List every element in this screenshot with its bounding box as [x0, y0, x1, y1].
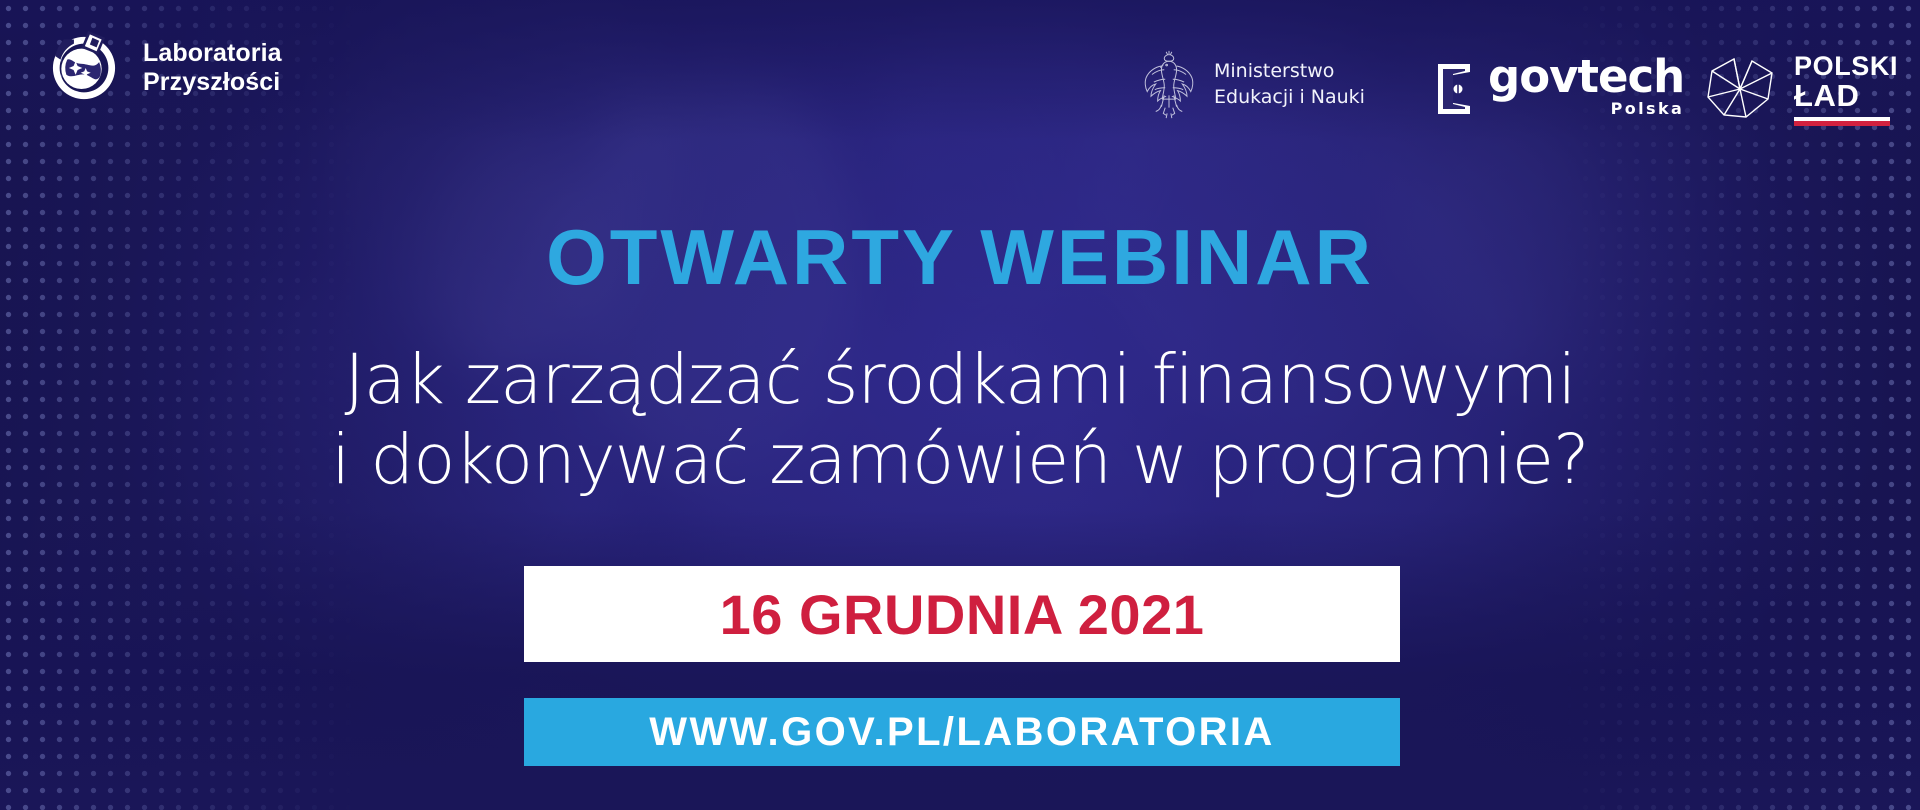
- ministry-logo-text: Ministerstwo Edukacji i Nauki: [1214, 58, 1365, 110]
- ministry-of-education-logo: Ministerstwo Edukacji i Nauki: [1140, 48, 1365, 120]
- webinar-headline: Jak zarządzać środkami finansowymi i dok…: [0, 340, 1920, 500]
- event-date: 16 GRUDNIA 2021: [720, 582, 1205, 647]
- kicker-otwarty-webinar: OTWARTY WEBINAR: [0, 218, 1920, 296]
- polish-eagle-icon: [1140, 48, 1198, 120]
- polski-lad-web-icon: [1700, 53, 1780, 125]
- polish-flag-bar: [1794, 117, 1890, 126]
- polski-lad-line-1: POLSKI: [1794, 52, 1898, 80]
- webinar-banner: Laboratoria Przyszłości: [0, 0, 1920, 810]
- date-bar: 16 GRUDNIA 2021: [524, 566, 1400, 662]
- flask-sparkle-icon: [42, 26, 126, 110]
- govtech-polska-logo: govtech Polska: [1434, 56, 1684, 118]
- polski-lad-line-2: ŁAD: [1794, 80, 1898, 113]
- url-bar[interactable]: WWW.GOV.PL/LABORATORIA: [524, 698, 1400, 766]
- laboratoria-logo-text: Laboratoria Przyszłości: [143, 39, 282, 98]
- polski-lad-logo: POLSKI ŁAD: [1700, 52, 1898, 126]
- laboratoria-przyszlosci-logo: Laboratoria Przyszłości: [42, 26, 282, 110]
- govtech-wordmark: govtech: [1488, 56, 1684, 97]
- govtech-subtitle: Polska: [1611, 99, 1685, 118]
- website-url[interactable]: WWW.GOV.PL/LABORATORIA: [649, 710, 1274, 755]
- govtech-bracket-icon: [1434, 60, 1478, 118]
